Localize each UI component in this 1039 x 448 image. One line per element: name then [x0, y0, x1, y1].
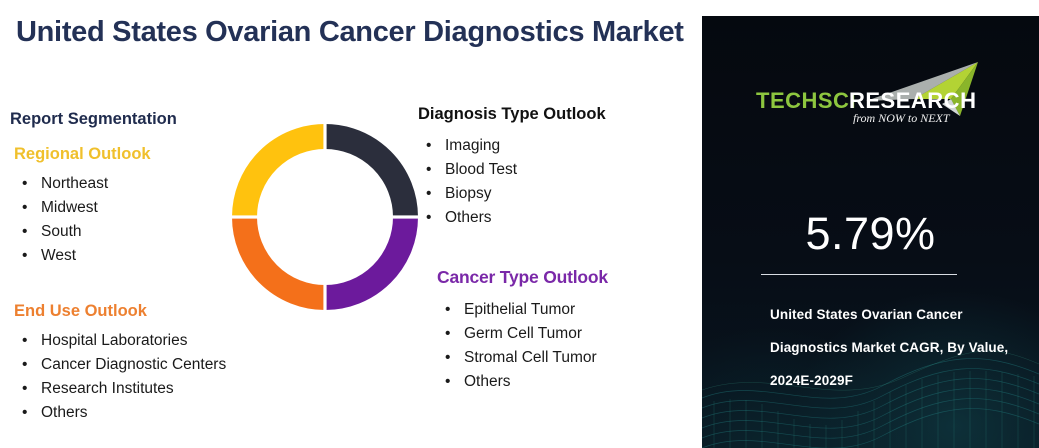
page-title: United States Ovarian Cancer Diagnostics… — [16, 16, 686, 49]
logo-name-part2: Research — [849, 88, 976, 113]
cancer-type-outlook-block: Cancer Type Outlook •Epithelial Tumor •G… — [437, 268, 608, 394]
cagr-divider — [761, 274, 957, 275]
list-item-label: Others — [41, 404, 88, 421]
list-item-label: Germ Cell Tumor — [464, 325, 582, 342]
bullet-icon: • — [22, 196, 27, 220]
list-item: •Northeast — [14, 172, 151, 196]
cancer-type-outlook-heading: Cancer Type Outlook — [437, 268, 608, 287]
bullet-icon: • — [22, 244, 27, 268]
regional-outlook-heading: Regional Outlook — [14, 145, 151, 163]
end-use-outlook-list: •Hospital Laboratories •Cancer Diagnosti… — [14, 329, 226, 425]
list-item: •Stromal Cell Tumor — [437, 346, 608, 370]
brand-panel: TechSci Research from NOW to NEXT 5.79% … — [702, 16, 1039, 448]
list-item: •Cancer Diagnostic Centers — [14, 353, 226, 377]
bullet-icon: • — [426, 134, 431, 158]
regional-outlook-list: •Northeast •Midwest •South •West — [14, 172, 151, 268]
bullet-icon: • — [22, 220, 27, 244]
cagr-caption: United States Ovarian Cancer Diagnostics… — [770, 298, 1015, 397]
bullet-icon: • — [22, 377, 27, 401]
list-item-label: Midwest — [41, 199, 98, 216]
list-item-label: Blood Test — [445, 161, 517, 178]
list-item-label: Hospital Laboratories — [41, 332, 187, 349]
end-use-outlook-heading: End Use Outlook — [14, 302, 226, 320]
donut-gap — [323, 282, 326, 310]
list-item-label: Research Institutes — [41, 380, 174, 397]
logo-name-part1: TechSci — [756, 88, 856, 113]
cancer-type-outlook-list: •Epithelial Tumor •Germ Cell Tumor •Stro… — [437, 298, 608, 394]
bullet-icon: • — [445, 370, 450, 394]
donut-gap — [323, 124, 326, 152]
infographic-root: United States Ovarian Cancer Diagnostics… — [0, 0, 1039, 448]
bullet-icon: • — [22, 401, 27, 425]
list-item-label: Others — [445, 209, 492, 226]
end-use-outlook-block: End Use Outlook •Hospital Laboratories •… — [14, 302, 226, 425]
list-item-label: Others — [464, 373, 511, 390]
content-panel: United States Ovarian Cancer Diagnostics… — [0, 0, 702, 448]
list-item-label: Biopsy — [445, 185, 492, 202]
list-item: •Hospital Laboratories — [14, 329, 226, 353]
donut-svg — [232, 124, 418, 310]
techsci-research-logo: TechSci Research from NOW to NEXT — [702, 54, 1039, 124]
donut-gap — [390, 215, 418, 218]
diagnosis-type-outlook-block: Diagnosis Type Outlook •Imaging •Blood T… — [418, 105, 606, 230]
logo-svg: TechSci Research from NOW to NEXT — [746, 54, 996, 124]
list-item-label: Northeast — [41, 175, 108, 192]
donut-slice-regional — [245, 137, 326, 218]
bullet-icon: • — [445, 298, 450, 322]
list-item-label: South — [41, 223, 82, 240]
report-segmentation-block: Report Segmentation — [10, 110, 177, 128]
donut-gap — [232, 215, 260, 218]
logo-tagline: from NOW to NEXT — [853, 111, 951, 124]
bullet-icon: • — [426, 182, 431, 206]
list-item-label: West — [41, 247, 76, 264]
bullet-icon: • — [22, 329, 27, 353]
list-item: •Research Institutes — [14, 377, 226, 401]
list-item: •Others — [418, 206, 606, 230]
list-item: •Biopsy — [418, 182, 606, 206]
report-segmentation-heading: Report Segmentation — [10, 110, 177, 128]
cagr-value: 5.79% — [702, 211, 1039, 256]
regional-outlook-block: Regional Outlook •Northeast •Midwest •So… — [14, 145, 151, 268]
list-item: •Epithelial Tumor — [437, 298, 608, 322]
list-item: •Others — [437, 370, 608, 394]
donut-slice-cancer-type — [325, 217, 406, 298]
list-item: •Midwest — [14, 196, 151, 220]
list-item: •Others — [14, 401, 226, 425]
list-item-label: Imaging — [445, 137, 500, 154]
donut-slice-end-use — [245, 217, 326, 298]
list-item-label: Epithelial Tumor — [464, 301, 575, 318]
segmentation-donut-chart — [232, 124, 418, 310]
list-item-label: Stromal Cell Tumor — [464, 349, 597, 366]
list-item: •Blood Test — [418, 158, 606, 182]
donut-slice-diagnosis-type — [325, 137, 406, 218]
list-item: •Germ Cell Tumor — [437, 322, 608, 346]
list-item: •West — [14, 244, 151, 268]
bullet-icon: • — [426, 206, 431, 230]
bullet-icon: • — [445, 346, 450, 370]
bullet-icon: • — [22, 172, 27, 196]
diagnosis-type-outlook-list: •Imaging •Blood Test •Biopsy •Others — [418, 134, 606, 230]
bullet-icon: • — [22, 353, 27, 377]
diagnosis-type-outlook-heading: Diagnosis Type Outlook — [418, 105, 606, 123]
bullet-icon: • — [426, 158, 431, 182]
list-item: •South — [14, 220, 151, 244]
bullet-icon: • — [445, 322, 450, 346]
list-item: •Imaging — [418, 134, 606, 158]
list-item-label: Cancer Diagnostic Centers — [41, 356, 226, 373]
